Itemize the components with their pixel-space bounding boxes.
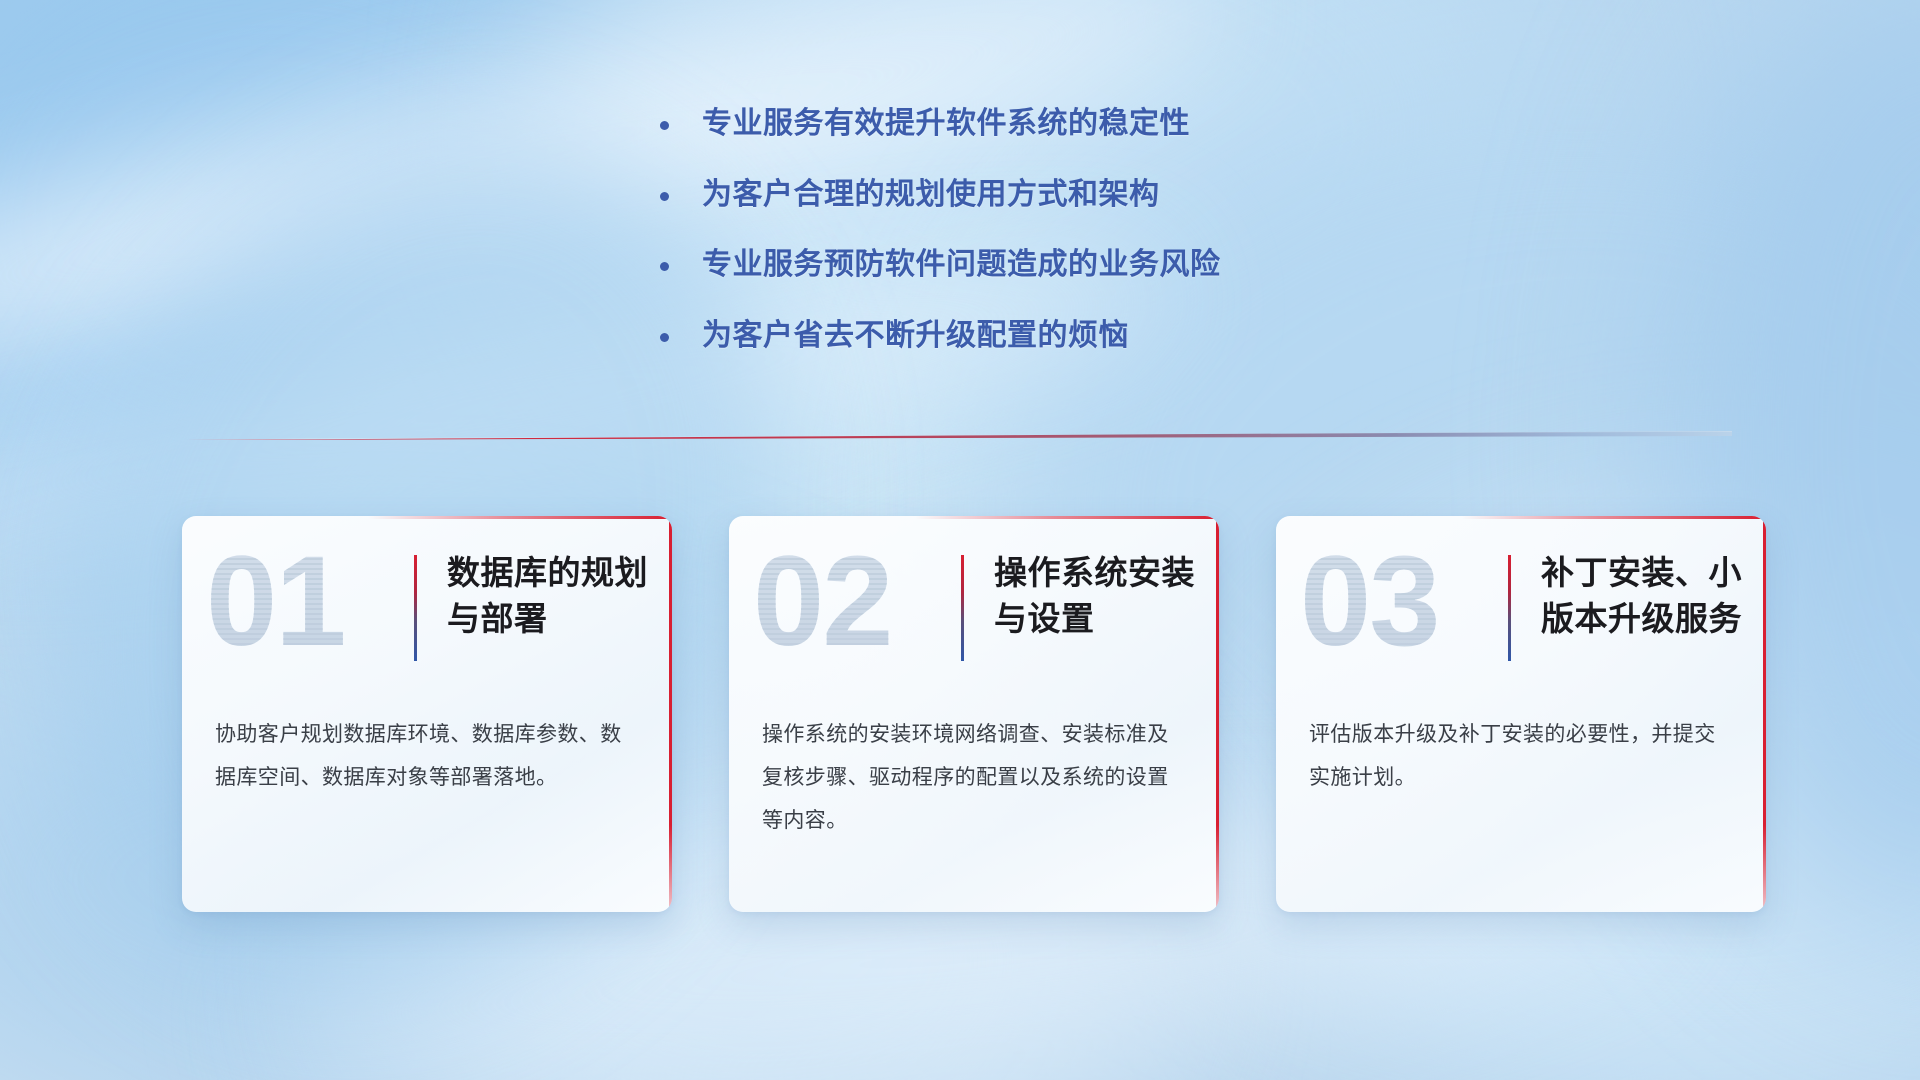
card-title-group: 操作系统安装与设置 (961, 550, 1201, 661)
service-card[interactable]: 01 数据库的规划与部署 协助客户规划数据库环境、数据库参数、数据库空间、数据库… (182, 516, 672, 912)
bullet-dot-icon (660, 333, 669, 342)
card-body-text: 操作系统的安装环境网络调查、安装标准及复核步骤、驱动程序的配置以及系统的设置等内… (762, 714, 1189, 842)
title-accent-bar (1508, 555, 1511, 661)
bullet-dot-icon (660, 262, 669, 271)
card-title-group: 补丁安装、小版本升级服务 (1508, 550, 1748, 661)
card-title: 数据库的规划与部署 (447, 550, 654, 641)
benefits-bullet-list: 专业服务有效提升软件系统的稳定性 为客户合理的规划使用方式和架构 专业服务预防软… (660, 105, 1420, 387)
tapered-rule-shape (186, 424, 1732, 440)
card-title-group: 数据库的规划与部署 (414, 550, 654, 661)
bullet-text: 为客户合理的规划使用方式和架构 (702, 176, 1160, 214)
section-divider (186, 424, 1732, 440)
card-body-text: 协助客户规划数据库环境、数据库参数、数据库空间、数据库对象等部署落地。 (215, 714, 642, 800)
service-card[interactable]: 02 操作系统安装与设置 操作系统的安装环境网络调查、安装标准及复核步骤、驱动程… (729, 516, 1219, 912)
list-item: 为客户省去不断升级配置的烦恼 (660, 317, 1420, 355)
card-body-text: 评估版本升级及补丁安装的必要性，并提交实施计划。 (1309, 714, 1736, 800)
card-number-watermark: 01 (206, 538, 344, 666)
card-header: 01 数据库的规划与部署 (182, 516, 672, 694)
list-item: 为客户合理的规划使用方式和架构 (660, 176, 1420, 214)
title-accent-bar (961, 555, 964, 661)
bullet-dot-icon (660, 192, 669, 201)
card-header: 02 操作系统安装与设置 (729, 516, 1219, 694)
list-item: 专业服务有效提升软件系统的稳定性 (660, 105, 1420, 143)
service-card[interactable]: 03 补丁安装、小版本升级服务 评估版本升级及补丁安装的必要性，并提交实施计划。 (1276, 516, 1766, 912)
list-item: 专业服务预防软件问题造成的业务风险 (660, 246, 1420, 284)
card-title: 操作系统安装与设置 (994, 550, 1201, 641)
bullet-text: 专业服务有效提升软件系统的稳定性 (702, 105, 1190, 143)
service-card-list: 01 数据库的规划与部署 协助客户规划数据库环境、数据库参数、数据库空间、数据库… (182, 516, 1766, 912)
bullet-dot-icon (660, 121, 669, 130)
bullet-text: 为客户省去不断升级配置的烦恼 (702, 317, 1129, 355)
bullet-text: 专业服务预防软件问题造成的业务风险 (702, 246, 1221, 284)
card-header: 03 补丁安装、小版本升级服务 (1276, 516, 1766, 694)
card-number-watermark: 02 (753, 538, 891, 666)
title-accent-bar (414, 555, 417, 661)
card-number-watermark: 03 (1300, 538, 1438, 666)
card-title: 补丁安装、小版本升级服务 (1541, 550, 1748, 641)
